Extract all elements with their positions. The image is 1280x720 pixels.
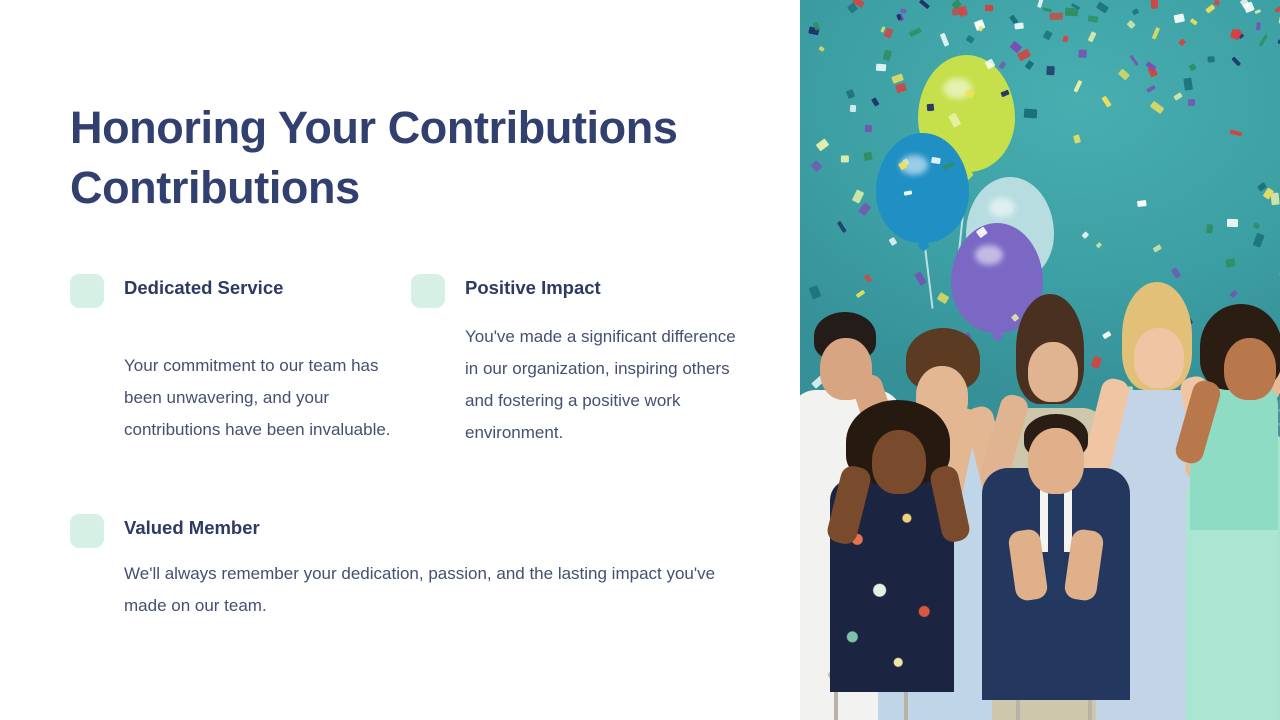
confetti-piece <box>1024 108 1037 118</box>
confetti-piece <box>1079 49 1087 57</box>
content-panel: Honoring Your Contributions Contribution… <box>0 0 800 720</box>
confetti-piece <box>1206 224 1213 234</box>
feature-header: Dedicated Service <box>70 274 400 308</box>
feature-title: Positive Impact <box>445 274 601 302</box>
person-front-floral <box>820 390 968 720</box>
feature-dedicated-service: Dedicated Service Your commitment to our… <box>70 274 400 446</box>
person-front-suit <box>968 376 1144 720</box>
confetti-piece <box>985 5 994 11</box>
confetti-piece <box>1271 193 1280 206</box>
crowd-group <box>800 240 1280 720</box>
confetti-piece <box>1255 21 1260 30</box>
confetti-piece <box>1183 78 1193 91</box>
feature-valued-member: Valued Member We'll always remember your… <box>70 514 730 622</box>
confetti-piece <box>1227 219 1238 227</box>
person-front-right-mint <box>1168 300 1280 720</box>
confetti-piece <box>865 124 873 131</box>
rounded-square-icon <box>411 274 445 308</box>
rounded-square-icon <box>70 514 104 548</box>
feature-row-top: Dedicated Service Your commitment to our… <box>70 274 750 514</box>
confetti-piece <box>1065 8 1078 17</box>
slide-root: Honoring Your Contributions Contribution… <box>0 0 1280 720</box>
confetti-piece <box>1173 13 1185 23</box>
feature-body: You've made a significant difference in … <box>411 308 741 449</box>
rounded-square-icon <box>70 274 104 308</box>
confetti-piece <box>1050 12 1063 19</box>
celebration-photo <box>800 0 1280 720</box>
confetti-piece <box>1137 200 1146 207</box>
confetti-piece <box>850 105 856 113</box>
page-title: Honoring Your Contributions Contribution… <box>70 98 710 218</box>
confetti-piece <box>927 104 934 112</box>
feature-body: Your commitment to our team has been unw… <box>70 308 392 446</box>
confetti-piece <box>876 63 886 71</box>
confetti-piece <box>841 154 849 162</box>
confetti-piece <box>1047 66 1055 75</box>
confetti-piece <box>1151 0 1158 8</box>
confetti-piece <box>1188 99 1195 106</box>
feature-title: Dedicated Service <box>104 274 283 302</box>
blue-balloon <box>876 133 969 243</box>
confetti-piece <box>1207 56 1214 62</box>
feature-body: We'll always remember your dedication, p… <box>70 548 724 622</box>
confetti-piece <box>1015 23 1024 30</box>
feature-positive-impact: Positive Impact You've made a significan… <box>411 274 741 449</box>
feature-header: Valued Member <box>70 514 730 548</box>
feature-header: Positive Impact <box>411 274 741 308</box>
feature-list: Dedicated Service Your commitment to our… <box>70 274 750 514</box>
feature-title: Valued Member <box>104 514 260 542</box>
